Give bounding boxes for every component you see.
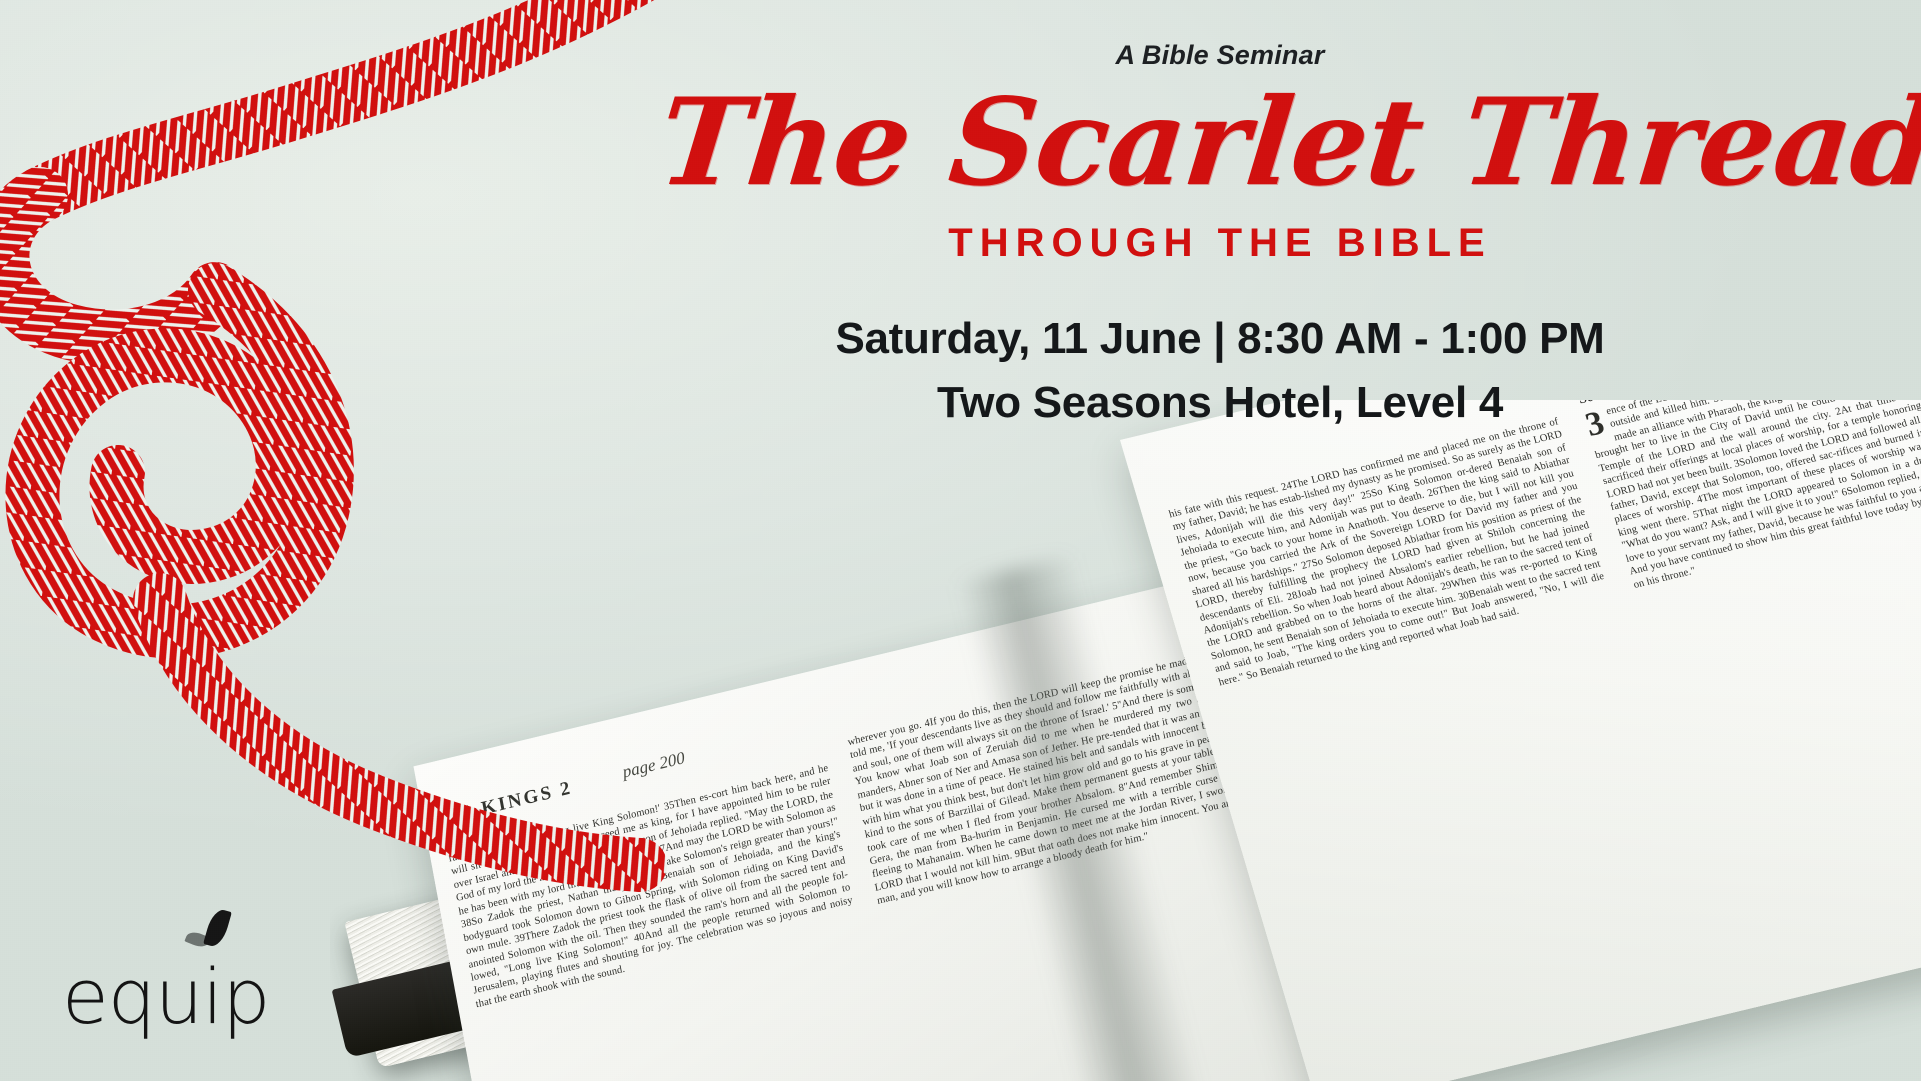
right-page-column-2: Solomon Asks for Wisdom 3 ence of the LO… bbox=[1577, 400, 1921, 592]
eyebrow-label: A Bible Seminar bbox=[660, 40, 1780, 71]
poster-canvas: 1 KINGS 2 page 200 ram's horn and shout,… bbox=[0, 0, 1921, 1081]
event-venue: Two Seasons Hotel, Level 4 bbox=[660, 378, 1780, 428]
poster-text-block: A Bible Seminar The Scarlet Thread THROU… bbox=[660, 40, 1780, 428]
leaf-dark-icon bbox=[203, 907, 232, 949]
right-page-column-2-body: ence of the LORD." 46The king then comma… bbox=[1594, 400, 1921, 590]
event-datetime: Saturday, 11 June | 8:30 AM - 1:00 PM bbox=[660, 314, 1780, 364]
page-title: The Scarlet Thread bbox=[654, 83, 1787, 203]
page-subtitle: THROUGH THE BIBLE bbox=[660, 221, 1780, 266]
rope-left-hook bbox=[1, 195, 215, 338]
rope-top-arc bbox=[40, 0, 700, 195]
logo-wordmark: equip bbox=[62, 959, 270, 1035]
right-page-column-1: his fate with this request. 24The LORD h… bbox=[1167, 415, 1609, 689]
equip-logo: equip bbox=[62, 905, 292, 1035]
